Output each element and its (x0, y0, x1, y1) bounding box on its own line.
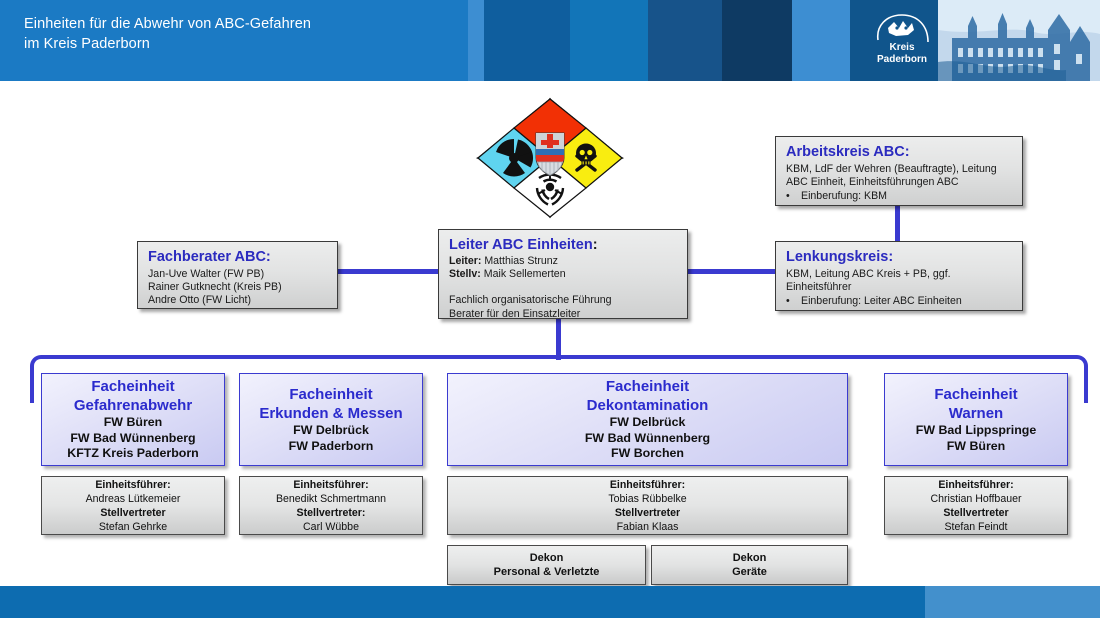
box-leiter-abc-einheiten[interactable]: Leiter ABC Einheiten: Leiter: Matthias S… (438, 229, 688, 319)
unit-box-erkunden-messen[interactable]: Facheinheit Erkunden & Messen FW Delbrüc… (239, 373, 423, 466)
unit-station-1-0: FW Delbrück (293, 423, 369, 439)
lenkungskreis-title: Lenkungskreis: (786, 249, 1013, 266)
connector-arbeitskreis-lenkungskreis (895, 204, 900, 242)
unit-title-line2-3: Warnen (949, 404, 1003, 423)
leader-name-3: Christian Hoffbauer (930, 492, 1021, 506)
arbeitskreis-line-1: KBM, LdF der Wehren (Beauftragte), Leitu… (786, 163, 1013, 176)
logo-text: Kreis Paderborn (866, 42, 938, 66)
dekon-subunit-geraete[interactable]: Dekon Geräte (651, 545, 848, 585)
header-band-5 (648, 0, 722, 81)
box-lenkungskreis[interactable]: Lenkungskreis: KBM, Leitung ABC Kreis + … (775, 241, 1023, 311)
header-band-3 (484, 0, 570, 81)
page-footer (0, 586, 1100, 618)
deputy-name-2: Fabian Klaas (617, 520, 679, 534)
leader-box-warnen[interactable]: Einheitsführer: Christian Hoffbauer Stel… (884, 476, 1068, 535)
unit-title-line1-3: Facheinheit (934, 385, 1017, 404)
bullet-icon: • (786, 190, 796, 203)
arbeitskreis-line-2: ABC Einheit, Einheitsführungen ABC (786, 176, 1013, 189)
page-title: Einheiten für die Abwehr von ABC-Gefahre… (24, 14, 454, 54)
leiter-note-1: Fachlich organisatorische Führung (449, 294, 678, 307)
bullet-icon: • (786, 295, 796, 308)
unit-title-line1-0: Facheinheit (91, 377, 174, 396)
logo-text-line1: Kreis (866, 42, 938, 54)
footer-bar-tail (925, 586, 1100, 618)
dekon-sub-1-line2: Geräte (732, 565, 767, 580)
leiter-role-2: Stellv: Maik Sellemerten (449, 268, 678, 281)
leader-label-3: Einheitsführer: (938, 478, 1013, 492)
dekon-sub-0-line2: Personal & Verletzte (494, 565, 600, 580)
leiter-note-2: Berater für den Einsatzleiter (449, 308, 678, 321)
deputy-label-3: Stellvertreter (943, 506, 1008, 520)
leader-box-erkunden-messen[interactable]: Einheitsführer: Benedikt Schmertmann Ste… (239, 476, 423, 535)
fachberater-line-2: Rainer Gutknecht (Kreis PB) (148, 281, 328, 294)
arbeitskreis-bullet: Einberufung: KBM (801, 190, 887, 203)
deputy-label-0: Stellvertreter (100, 506, 165, 520)
unit-box-dekontamination[interactable]: Facheinheit Dekontamination FW Delbrück … (447, 373, 848, 466)
connector-fachberater-leiter (337, 269, 439, 274)
unit-station-2-2: FW Borchen (611, 446, 684, 462)
leiter-role-1: Leiter: Matthias Strunz (449, 255, 678, 268)
leiter-title-text: Leiter ABC Einheiten (449, 237, 593, 253)
leader-label-2: Einheitsführer: (610, 478, 685, 492)
page-header: Einheiten für die Abwehr von ABC-Gefahre… (0, 0, 1100, 81)
leader-label-0: Einheitsführer: (95, 478, 170, 492)
header-band-7 (792, 0, 850, 81)
page-title-line1: Einheiten für die Abwehr von ABC-Gefahre… (24, 14, 454, 34)
deputy-name-3: Stefan Feindt (944, 520, 1007, 534)
dekon-subunit-personal[interactable]: Dekon Personal & Verletzte (447, 545, 646, 585)
slide-canvas: Einheiten für die Abwehr von ABC-Gefahre… (0, 0, 1100, 618)
unit-title-line2-0: Gefahrenabwehr (74, 396, 192, 415)
unit-station-1-1: FW Paderborn (289, 439, 374, 455)
dekon-sub-1-line1: Dekon (733, 551, 767, 566)
leader-box-gefahrenabwehr[interactable]: Einheitsführer: Andreas Lütkemeier Stell… (41, 476, 225, 535)
unit-station-3-1: FW Büren (947, 439, 1006, 455)
lenkungskreis-line-2: Einheitsführer (786, 281, 1013, 294)
unit-title-line1-1: Facheinheit (289, 385, 372, 404)
lenkungskreis-line-1: KBM, Leitung ABC Kreis + PB, ggf. (786, 268, 1013, 281)
fachberater-line-3: Andre Otto (FW Licht) (148, 294, 328, 307)
kreis-paderborn-logo: Kreis Paderborn (866, 0, 938, 81)
unit-station-2-1: FW Bad Wünnenberg (585, 431, 710, 447)
unit-station-0-2: KFTZ Kreis Paderborn (67, 446, 199, 462)
abc-hazard-diamond (470, 95, 630, 222)
header-band-2 (468, 0, 484, 81)
leiter-role-1-name: Matthias Strunz (484, 255, 558, 267)
leiter-title: Leiter ABC Einheiten: (449, 237, 678, 254)
leader-label-1: Einheitsführer: (293, 478, 368, 492)
dekon-sub-0-line1: Dekon (530, 551, 564, 566)
deputy-label-1: Stellvertreter: (297, 506, 366, 520)
page-title-line2: im Kreis Paderborn (24, 34, 454, 54)
leiter-role-2-label: Stellv: (449, 268, 481, 280)
fachberater-line-1: Jan-Uve Walter (FW PB) (148, 268, 328, 281)
unit-title-line2-1: Erkunden & Messen (259, 404, 402, 423)
unit-station-0-1: FW Bad Wünnenberg (70, 431, 195, 447)
unit-box-gefahrenabwehr[interactable]: Facheinheit Gefahrenabwehr FW Büren FW B… (41, 373, 225, 466)
logo-text-line2: Paderborn (866, 54, 938, 66)
unit-station-3-0: FW Bad Lippspringe (916, 423, 1036, 439)
footer-bar-main (0, 586, 925, 618)
connector-leiter-lenkungskreis (684, 269, 776, 274)
leader-name-0: Andreas Lütkemeier (86, 492, 181, 506)
leader-name-2: Tobias Rübbelke (608, 492, 686, 506)
header-band-6 (722, 0, 792, 81)
unit-box-warnen[interactable]: Facheinheit Warnen FW Bad Lippspringe FW… (884, 373, 1068, 466)
unit-title-line2-2: Dekontamination (587, 396, 709, 415)
unit-station-0-0: FW Büren (104, 415, 163, 431)
box-arbeitskreis-abc[interactable]: Arbeitskreis ABC: KBM, LdF der Wehren (B… (775, 136, 1023, 206)
unit-station-2-0: FW Delbrück (610, 415, 686, 431)
leiter-title-colon: : (593, 237, 598, 253)
box-fachberater-abc[interactable]: Fachberater ABC: Jan-Uve Walter (FW PB) … (137, 241, 338, 309)
leiter-role-1-label: Leiter: (449, 255, 481, 267)
unit-title-line1-2: Facheinheit (606, 377, 689, 396)
lenkungskreis-bullet: Einberufung: Leiter ABC Einheiten (801, 295, 962, 308)
deputy-label-2: Stellvertreter (615, 506, 680, 520)
header-band-4 (570, 0, 648, 81)
leiter-role-2-name: Maik Sellemerten (484, 268, 566, 280)
leader-box-dekontamination[interactable]: Einheitsführer: Tobias Rübbelke Stellver… (447, 476, 848, 535)
deputy-name-0: Stefan Gehrke (99, 520, 167, 534)
leader-name-1: Benedikt Schmertmann (276, 492, 386, 506)
fachberater-title: Fachberater ABC: (148, 249, 328, 266)
arbeitskreis-title: Arbeitskreis ABC: (786, 144, 1013, 161)
castle-photo (938, 0, 1100, 81)
deputy-name-1: Carl Wübbe (303, 520, 359, 534)
